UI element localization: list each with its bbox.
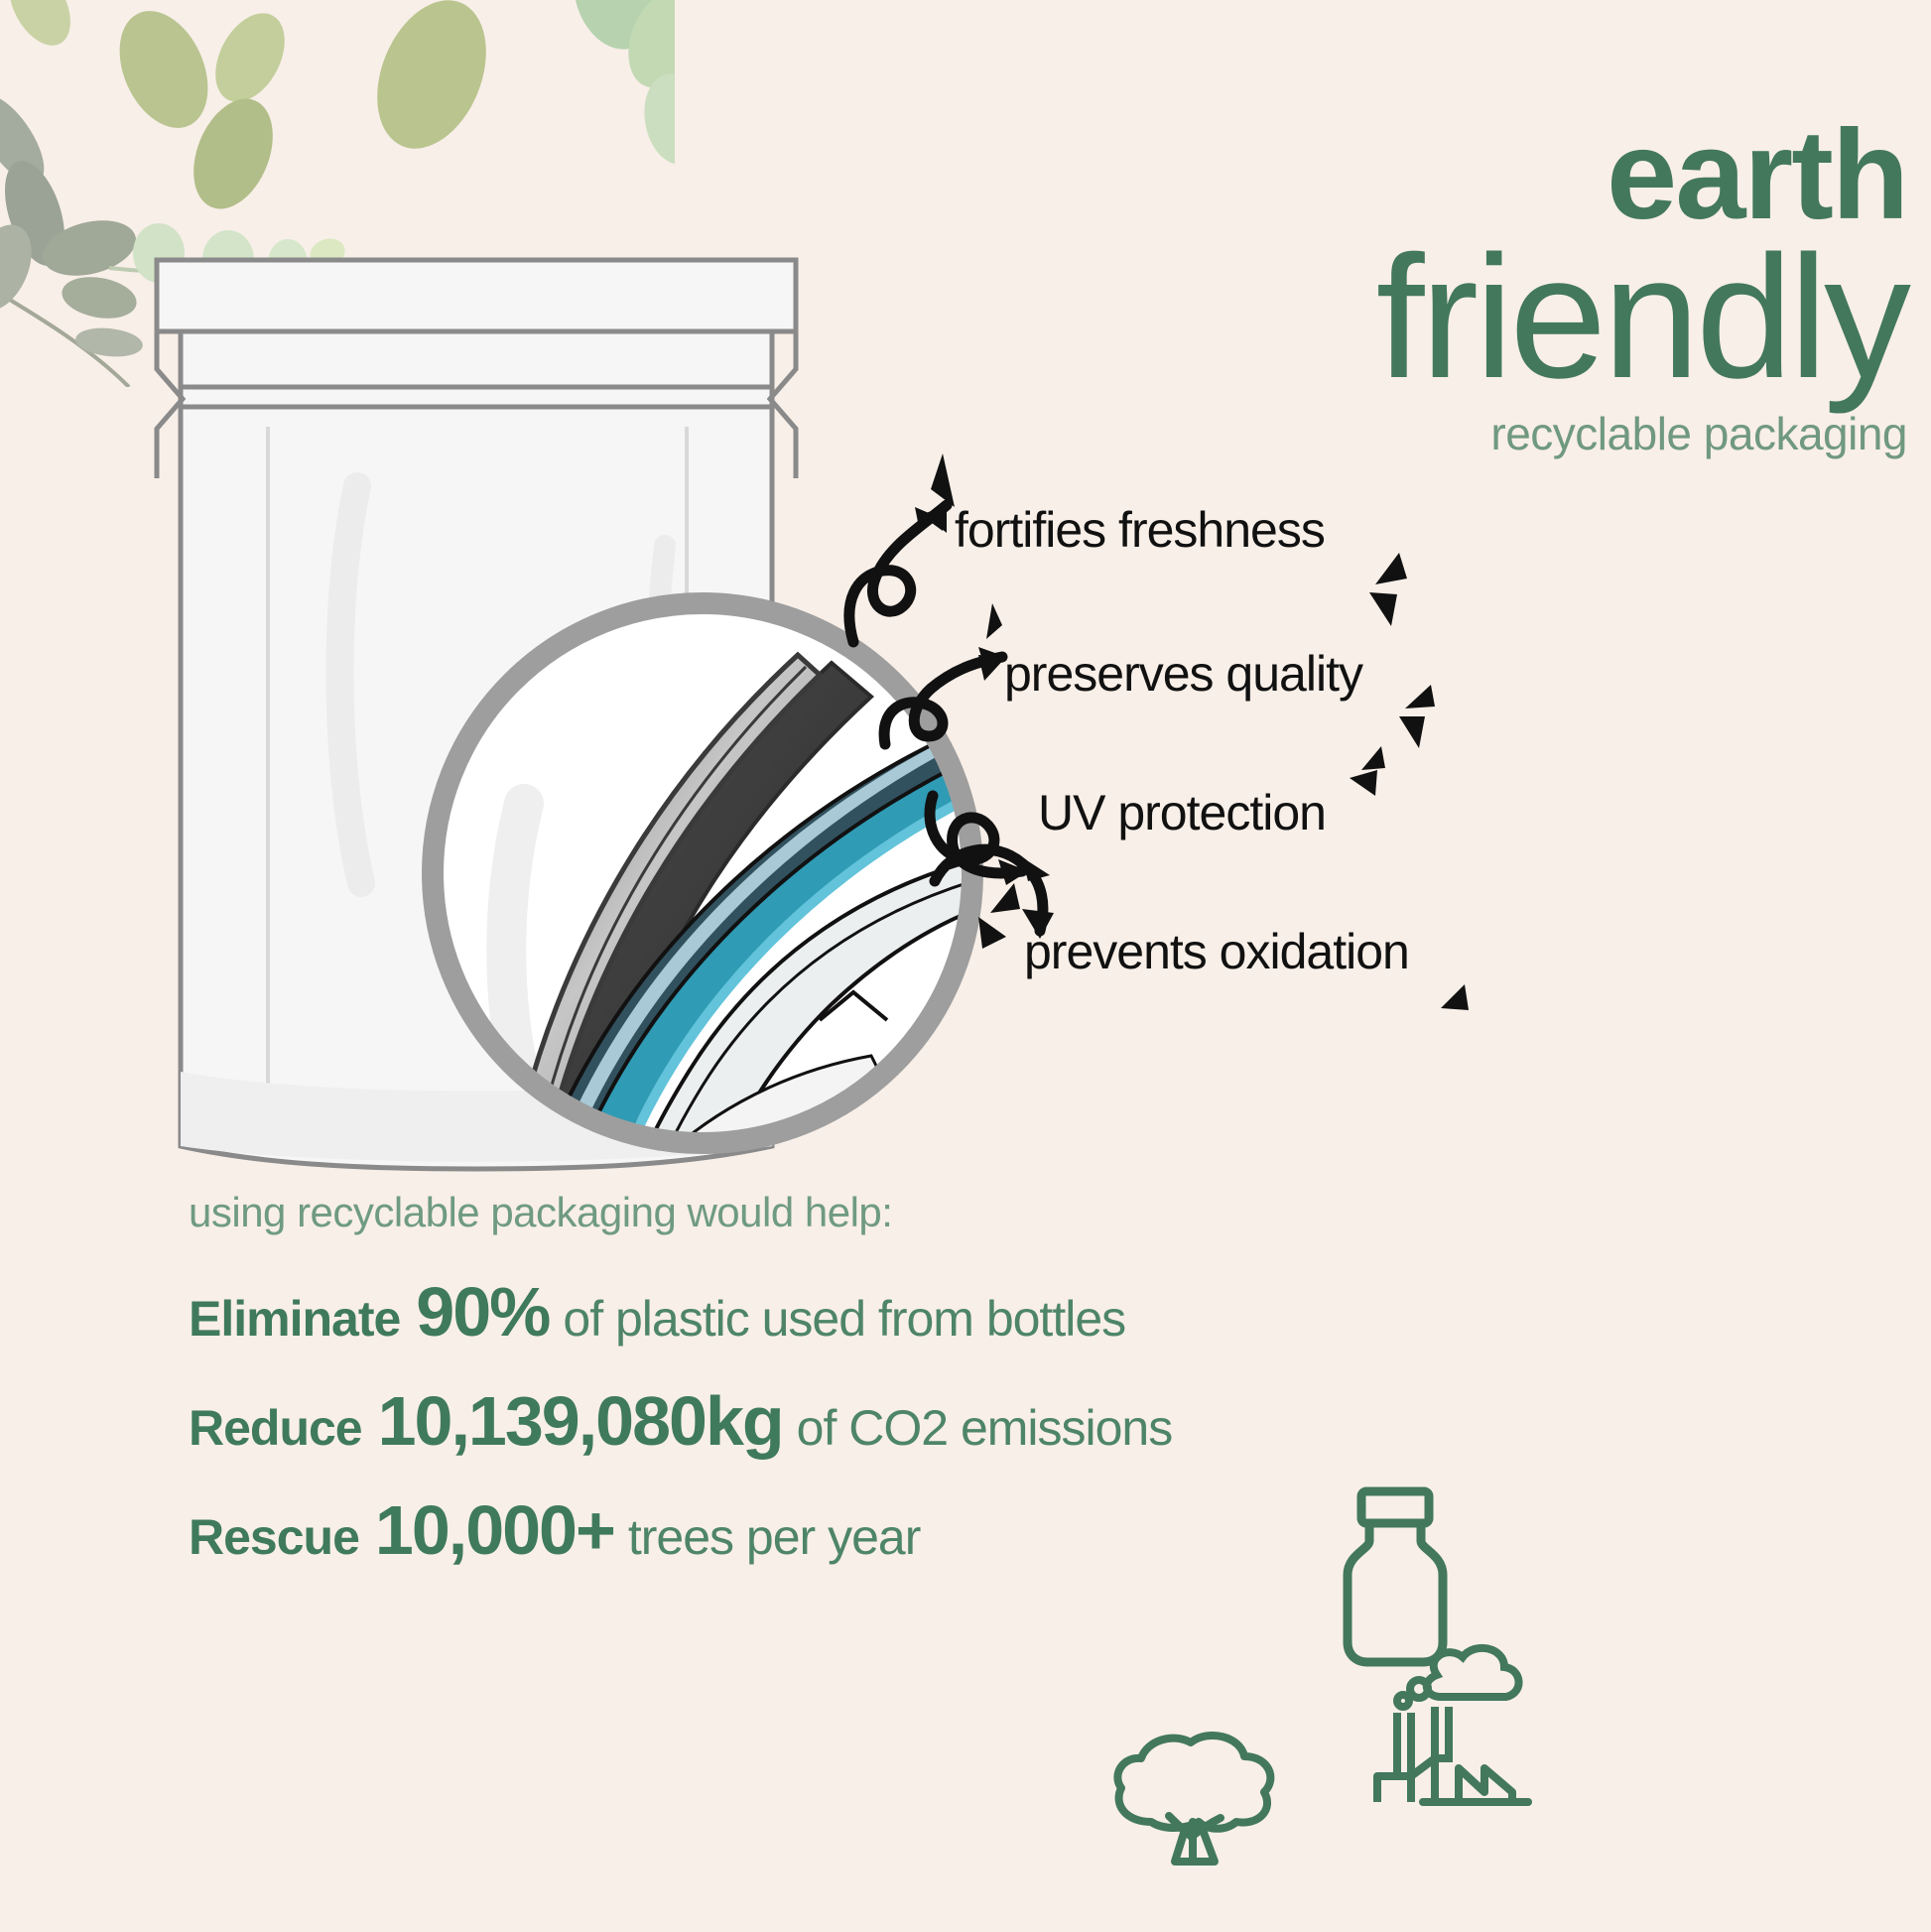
feature-uv-protection: UV protection xyxy=(1038,784,1326,841)
factory-icon xyxy=(1363,1627,1542,1806)
stat-row-plastic: Eliminate 90% of plastic used from bottl… xyxy=(189,1272,1875,1352)
stats-block: using recyclable packaging would help: E… xyxy=(189,1189,1875,1600)
stat-value: 10,000+ xyxy=(375,1490,614,1570)
feature-label: prevents oxidation xyxy=(1024,924,1409,979)
stat-tail: of CO2 emissions xyxy=(797,1399,1173,1457)
stat-tail: trees per year xyxy=(628,1508,920,1566)
sparkle-triangles-icon xyxy=(1352,549,1421,638)
tree-icon xyxy=(1090,1727,1298,1895)
sparkle-triangles-icon xyxy=(966,601,1016,661)
stat-tail: of plastic used from bottles xyxy=(563,1290,1125,1348)
stat-verb: Rescue xyxy=(189,1508,359,1566)
headline-block: earth friendly recyclable packaging xyxy=(875,117,1907,460)
stat-verb: Reduce xyxy=(189,1399,362,1457)
stat-verb: Eliminate xyxy=(189,1290,400,1348)
headline-line-2: friendly xyxy=(875,238,1907,399)
sparkle-triangles-icon xyxy=(909,450,988,539)
stat-row-co2: Reduce 10,139,080kg of CO2 emissions xyxy=(189,1381,1875,1461)
stat-row-trees: Rescue 10,000+ trees per year xyxy=(189,1490,1875,1570)
infographic-canvas: earth friendly recyclable packaging fort… xyxy=(0,0,1931,1932)
feature-fortifies-freshness: fortifies freshness xyxy=(955,501,1325,559)
sparkle-triangles-icon xyxy=(1334,744,1403,824)
stat-value: 10,139,080kg xyxy=(378,1381,783,1461)
stats-intro: using recyclable packaging would help: xyxy=(189,1189,1875,1236)
feature-label: preserves quality xyxy=(1004,646,1362,702)
feature-label: fortifies freshness xyxy=(955,502,1325,558)
sparkle-triangles-icon xyxy=(1425,978,1484,1048)
sparkle-triangles-icon xyxy=(966,879,1036,959)
stat-value: 90% xyxy=(416,1272,549,1352)
headline-line-1: earth xyxy=(875,117,1907,234)
feature-preserves-quality: preserves quality xyxy=(1004,645,1362,703)
feature-label: UV protection xyxy=(1038,785,1326,840)
feature-prevents-oxidation: prevents oxidation xyxy=(1024,923,1409,980)
headline-subtitle: recyclable packaging xyxy=(875,407,1907,460)
